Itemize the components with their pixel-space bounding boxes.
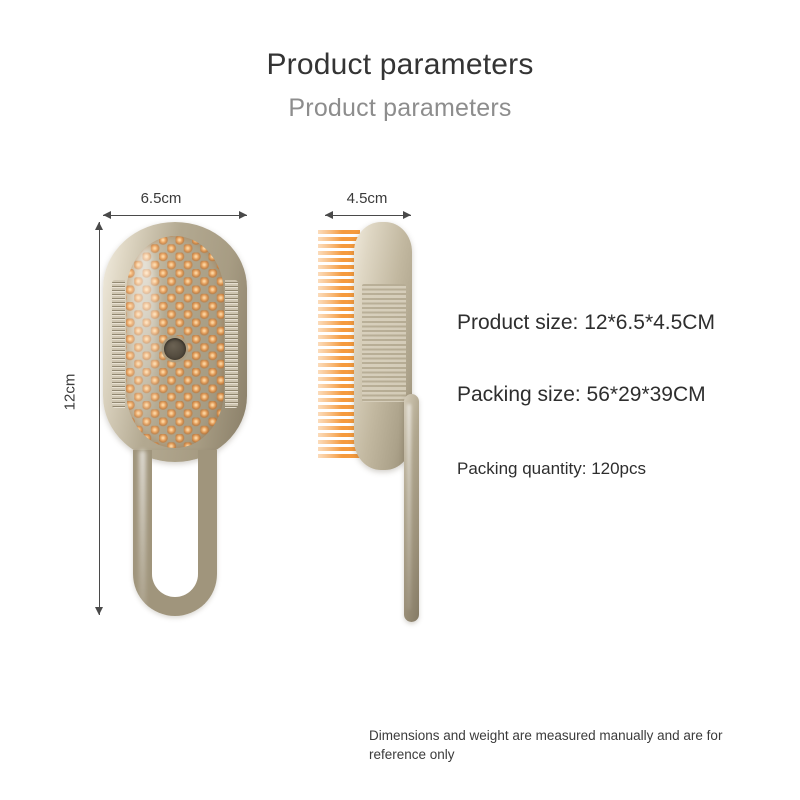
dimension-line-width-front	[103, 215, 247, 216]
dimension-line-height	[99, 222, 100, 615]
product-side-view	[318, 222, 428, 622]
page-title: Product parameters	[0, 48, 800, 82]
steam-nozzle-hole	[164, 338, 186, 360]
arrow-right-width-front-icon	[239, 211, 247, 219]
spec-packing-quantity: Packing quantity: 120pcs	[457, 459, 646, 479]
spec-packing-size: Packing size: 56*29*39CM	[457, 383, 706, 407]
comb-ridges-side	[362, 284, 406, 402]
spec-product-size: Product size: 12*6.5*4.5CM	[457, 311, 715, 335]
product-front-view	[103, 222, 247, 616]
dimension-line-width-side	[325, 215, 411, 216]
arrow-right-width-side-icon	[403, 211, 411, 219]
arrow-left-width-side-icon	[325, 211, 333, 219]
dimension-label-height: 12cm	[62, 374, 79, 411]
footer-disclaimer: Dimensions and weight are measured manua…	[369, 726, 749, 764]
arrow-up-height-icon	[95, 222, 103, 230]
handle-highlight-front	[139, 450, 146, 608]
infographic-canvas: Product parameters Product parameters 6.…	[0, 0, 800, 800]
arrow-left-width-front-icon	[103, 211, 111, 219]
page-subtitle: Product parameters	[0, 94, 800, 123]
comb-teeth-right	[225, 280, 238, 408]
comb-teeth-left	[112, 280, 125, 408]
dimension-label-width-front: 6.5cm	[141, 190, 182, 207]
arrow-down-height-icon	[95, 607, 103, 615]
handle-highlight-side	[407, 404, 411, 610]
dimension-label-width-side: 4.5cm	[347, 190, 388, 207]
